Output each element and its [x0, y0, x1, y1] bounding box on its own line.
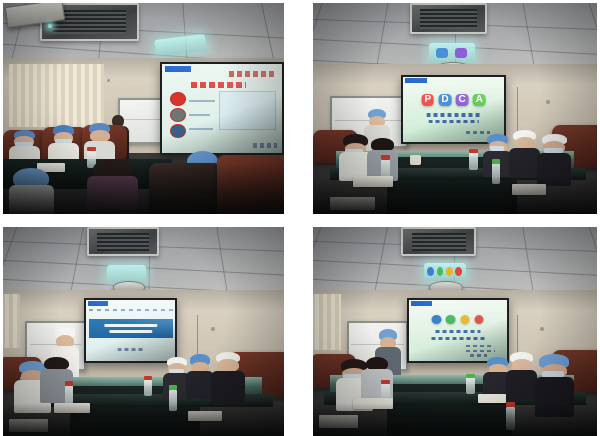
slide-header-rule [89, 309, 172, 311]
slide-red-heading [191, 82, 246, 88]
photo-top-left [3, 3, 284, 214]
attendee [211, 352, 245, 402]
slide-presenter-credit [118, 348, 145, 351]
projected-circle-blue [427, 267, 434, 276]
projection-screen-frame [160, 62, 284, 155]
circle-icon-red [474, 315, 484, 325]
projected-circle-red [455, 267, 462, 276]
hair [366, 357, 388, 371]
slide-body-line [189, 114, 211, 116]
bottle-cap [381, 380, 390, 385]
pdca-letter-blocks: P D C A [419, 94, 488, 106]
slide-circle-chip [170, 92, 186, 106]
slide-subtitle-line [431, 337, 484, 340]
attendee-body [186, 371, 214, 399]
window-curtain [3, 294, 20, 348]
slide-text-panel [219, 91, 276, 130]
water-bottle [469, 153, 478, 170]
projected-circle-green [437, 267, 444, 276]
attendee [509, 130, 540, 176]
foreground-shadow [3, 403, 284, 436]
attendee [186, 354, 214, 398]
circle-icon-green [446, 315, 456, 325]
bottle-cap [466, 374, 475, 378]
pdca-letter-d: D [439, 94, 451, 106]
slide-title-bar [405, 78, 427, 83]
projection-screen [409, 300, 507, 361]
slide-footer-logo [253, 143, 277, 148]
photo-grid: P D C A [0, 0, 600, 436]
window-curtain [313, 294, 341, 350]
pdca-letter-c: C [456, 94, 468, 106]
photo-bottom-left [3, 227, 284, 436]
bottle-cap [87, 147, 95, 151]
slide-pdca: P D C A [403, 77, 504, 143]
projected-letter-c [455, 48, 467, 59]
slide-circle-chip [170, 108, 186, 122]
bottle-cap [492, 159, 501, 164]
ceiling-projector-glow [424, 263, 467, 282]
attendee [506, 352, 537, 398]
ceiling-ac-unit [410, 3, 488, 34]
attendee-body [506, 370, 537, 400]
slide-subtitle-line [435, 330, 480, 333]
circle-icon-yellow [460, 315, 470, 325]
bottle-cap [469, 149, 478, 153]
wall-outlet [107, 79, 110, 82]
attendee-body [509, 148, 540, 178]
slide-title-bar [411, 301, 433, 305]
slide-title-line [104, 324, 157, 327]
projected-letter-d [436, 48, 448, 59]
projection-screen [86, 300, 175, 361]
four-colored-circle-icons [429, 315, 486, 325]
slide-body-line [189, 128, 213, 130]
tea-cup [410, 155, 421, 166]
pdca-letter-a: A [473, 94, 485, 106]
pdca-letter-p: P [422, 94, 434, 106]
photo-top-right: P D C A [313, 3, 597, 214]
ceiling-ac-unit [87, 227, 158, 256]
ceiling-ac-unit [401, 227, 476, 256]
window-curtain [9, 64, 105, 127]
attendee-body [211, 371, 245, 404]
slide-body-line [189, 100, 215, 102]
foreground-shadow [3, 163, 284, 214]
document-paper [478, 394, 506, 402]
circle-icon-blue [432, 315, 442, 325]
attendee-head [512, 359, 532, 371]
slide-blue-band [86, 300, 175, 361]
slide-subtitle-line [428, 120, 479, 123]
slide-four-circles [409, 300, 507, 361]
bottle-cap [381, 155, 390, 160]
hair [371, 138, 393, 151]
foreground-shadow [313, 176, 597, 214]
slide-presenter-credit [466, 350, 495, 352]
slide-dense-red [162, 64, 282, 153]
water-bottle [144, 380, 152, 397]
projection-screen-frame [407, 298, 509, 363]
slide-title-bar [88, 301, 108, 305]
photo-bottom-right [313, 227, 597, 436]
slide-presenter-credit [466, 345, 492, 347]
slide-title-bar [165, 66, 191, 72]
wall-outlet [546, 100, 550, 104]
slide-circle-chip [170, 124, 186, 138]
bottle-cap [65, 381, 73, 386]
bottle-cap [144, 376, 152, 380]
hair [44, 357, 68, 371]
projection-screen [162, 64, 282, 153]
water-bottle [466, 377, 475, 394]
slide-title-line [109, 330, 152, 333]
slide-subtitle-line [426, 113, 481, 116]
face-mask [542, 371, 563, 377]
slide-blue-title-band [89, 319, 172, 337]
projection-screen-frame [84, 298, 177, 363]
foreground-shadow [313, 403, 597, 436]
ceiling-projector-glow [429, 43, 474, 64]
slide-title-text [229, 71, 277, 76]
bottle-cap [169, 385, 177, 390]
projected-circle-yellow [446, 267, 453, 276]
projection-screen: P D C A [403, 77, 504, 143]
